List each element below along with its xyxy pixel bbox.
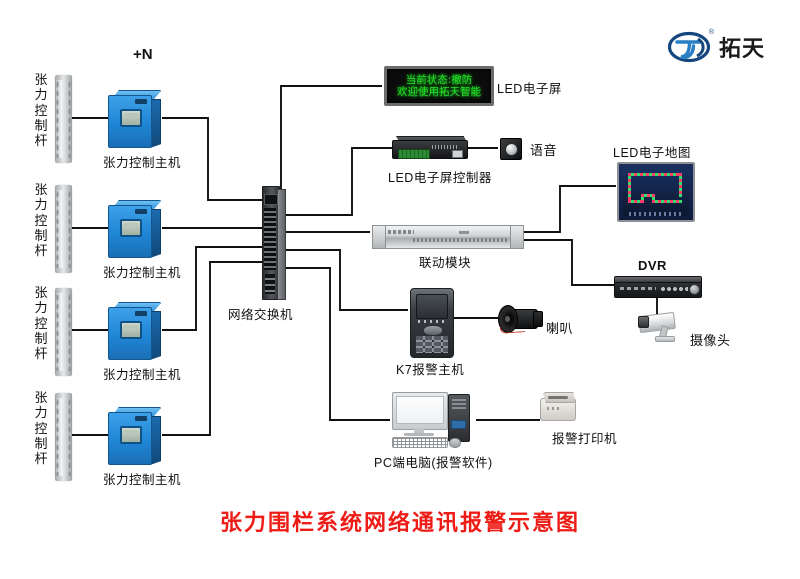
led-screen-line-2: 欢迎使用拓天智能: [397, 86, 481, 98]
dvr-unit[interactable]: [614, 276, 702, 298]
horn-speaker-label: 喇叭: [546, 318, 573, 337]
linkage-module[interactable]: [372, 225, 524, 249]
led-map-label: LED电子地图: [613, 142, 691, 161]
led-screen-controller-label: LED电子屏控制器: [388, 167, 492, 186]
tension-host-label-2: 张力控制主机: [103, 262, 181, 281]
led-display-screen-label: LED电子屏: [497, 78, 562, 97]
tension-host-label-4: 张力控制主机: [103, 469, 181, 488]
registered-mark: ®: [709, 29, 714, 36]
tension-pole-2: [55, 185, 72, 273]
linkage-module-label: 联动模块: [419, 252, 471, 271]
tension-host-label-3: 张力控制主机: [103, 364, 181, 383]
dvr-label: DVR: [638, 258, 667, 273]
tension-pole-label-3: 张 力 控 制 杆: [33, 285, 49, 362]
k7-alarm-host[interactable]: [410, 288, 454, 358]
alarm-printer-label: 报警打印机: [552, 428, 617, 447]
led-screen-line-1: 当前状态:撤防: [406, 74, 473, 86]
tension-host-label-1: 张力控制主机: [103, 152, 181, 171]
tension-pole-1: [55, 75, 72, 163]
led-screen-controller[interactable]: [392, 136, 466, 158]
brand-logo: ® 拓天: [668, 30, 765, 64]
expansion-note: +N: [133, 46, 153, 63]
brand-name: 拓天: [719, 31, 765, 63]
tension-host-3[interactable]: [108, 302, 162, 358]
led-display-screen[interactable]: 当前状态:撤防 欢迎使用拓天智能: [384, 66, 494, 106]
pc-workstation[interactable]: [392, 392, 476, 448]
k7-alarm-host-label: K7报警主机: [396, 359, 464, 378]
cctv-camera-label: 摄像头: [690, 330, 731, 349]
tension-pole-label-2: 张 力 控 制 杆: [33, 182, 49, 259]
network-switch-label: 网络交换机: [228, 304, 293, 323]
tuotian-logo-icon: ®: [668, 30, 712, 64]
cctv-camera[interactable]: [635, 312, 679, 344]
alarm-printer[interactable]: [540, 392, 576, 420]
diagram-title: 张力围栏系统网络通讯报警示意图: [0, 505, 800, 537]
tension-pole-4: [55, 393, 72, 481]
led-electronic-map[interactable]: [617, 162, 695, 222]
tension-host-4[interactable]: [108, 407, 162, 463]
voice-module-label: 语音: [530, 140, 557, 159]
voice-module-icon[interactable]: [500, 138, 522, 160]
tension-host-1[interactable]: [108, 90, 162, 146]
tension-pole-3: [55, 288, 72, 376]
tension-pole-label-1: 张 力 控 制 杆: [33, 72, 49, 149]
tension-pole-label-4: 张 力 控 制 杆: [33, 390, 49, 467]
tension-host-2[interactable]: [108, 200, 162, 256]
network-switch[interactable]: [258, 186, 284, 298]
horn-speaker-icon: [498, 304, 544, 332]
pc-workstation-label: PC端电脑(报警软件): [374, 452, 493, 471]
